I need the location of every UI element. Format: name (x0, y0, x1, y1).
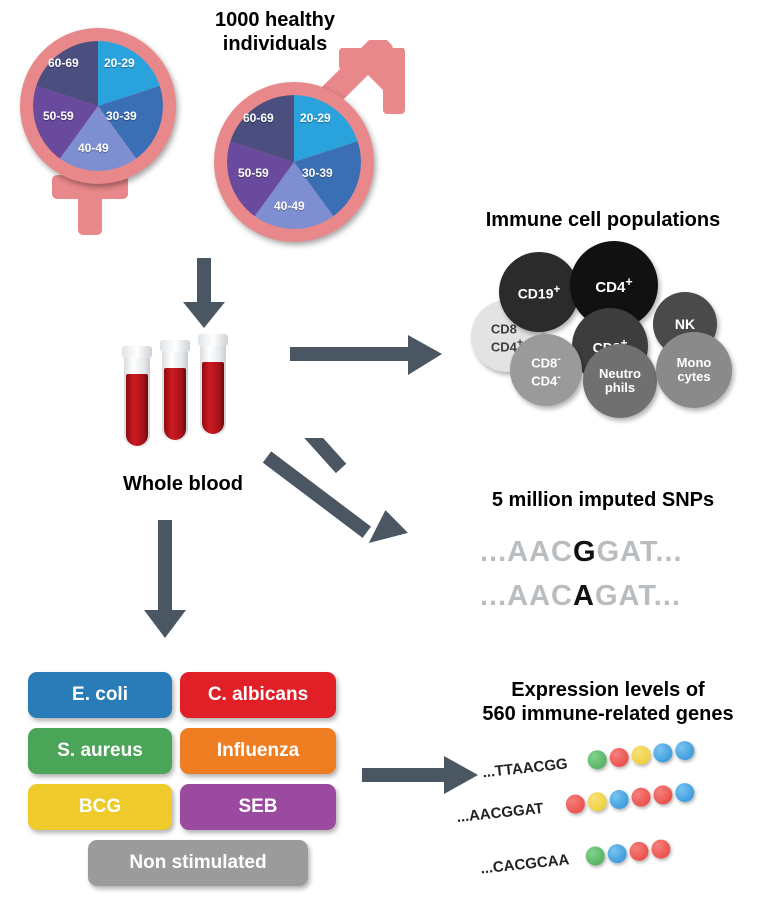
female-pie-label-60-69: 60-69 (48, 56, 79, 70)
tube-blood-fill (164, 368, 186, 440)
male-pie-label-60-69: 60-69 (243, 111, 274, 125)
bead-red (631, 787, 652, 808)
expression-heading-line1: Expression levels of (455, 678, 761, 702)
snp-suffix: GAT... (597, 536, 683, 568)
expression-heading-line2: 560 immune-related genes (455, 702, 761, 726)
neutrophils-line2: phils (605, 380, 635, 395)
neutrophils-line1: Neutro (599, 366, 641, 381)
male-pie-label-30-39: 30-39 (302, 166, 333, 180)
immune-heading: Immune cell populations (448, 208, 758, 232)
female-pie-label-40-49: 40-49 (78, 141, 109, 155)
arrow-blood-to-immune (290, 330, 450, 380)
male-pie-label-40-49: 40-49 (274, 199, 305, 213)
snp-variant-g: G (573, 536, 597, 568)
expression-heading: Expression levels of 560 immune-related … (455, 678, 761, 726)
blood-tube-2 (162, 346, 188, 442)
nk-label: NK (675, 317, 695, 331)
immune-cell-cd8neg-cd4neg: CD8- CD4- (510, 334, 582, 406)
bead-string-2-sequence: ...AACGGAT (456, 800, 545, 826)
female-pie-label-50-59: 50-59 (43, 109, 74, 123)
female-symbol: 20-29 30-39 40-49 50-59 60-69 (10, 10, 200, 240)
bead-red (650, 839, 671, 860)
female-pie-label-20-29: 20-29 (104, 56, 135, 70)
expression-bead-strings: ...TTAACGG ...AACGGAT ...CACGCAA (440, 740, 760, 910)
bead-blue (674, 740, 695, 761)
snp-prefix: ...AAC (480, 580, 573, 612)
male-age-pie: 20-29 30-39 40-49 50-59 60-69 (214, 82, 374, 242)
bead-red (565, 794, 586, 815)
bead-yellow (587, 791, 608, 812)
stimulus-s-aureus[interactable]: S. aureus (28, 728, 172, 774)
plus-sign: + (553, 283, 560, 296)
tube-blood-fill (202, 362, 224, 434)
bead-red (652, 784, 673, 805)
stimuli-grid: E. coli C. albicans S. aureus Influenza … (28, 672, 338, 892)
snp-sequences: ...AACGGAT... ...AACAGAT... (470, 530, 750, 630)
monocytes-line1: Mono (677, 355, 712, 370)
minus-sign: - (557, 353, 561, 365)
bead-string-1-sequence: ...TTAACGG (482, 755, 569, 781)
bead-red (629, 841, 650, 862)
immune-cell-cluster: CD8+ CD4+ CD19+ CD4+ NK CD8+ CD8- CD4- N… (460, 240, 760, 415)
bead-blue (607, 843, 628, 864)
monocytes-line2: cytes (677, 369, 710, 384)
snp-sequence-2: ...AACAGAT... (480, 580, 681, 613)
bead-green (587, 749, 608, 770)
immune-cell-cd19: CD19+ (499, 252, 579, 332)
minus-sign: - (557, 371, 561, 383)
tube-cap-icon (160, 340, 190, 352)
arrow-blood-to-snps (262, 438, 437, 548)
male-symbol: 20-29 30-39 40-49 50-59 60-69 (196, 40, 426, 255)
cd4-label: CD4 (491, 339, 517, 354)
cd4-label: CD4 (531, 373, 557, 388)
arrow-cohort-to-blood (175, 258, 235, 330)
blood-tube-3 (200, 340, 226, 436)
stimulus-e-coli[interactable]: E. coli (28, 672, 172, 718)
tube-blood-fill (126, 374, 148, 446)
bead-blue (609, 789, 630, 810)
bead-blue (652, 742, 673, 763)
immune-cell-monocytes: Mono cytes (656, 332, 732, 408)
blood-tube-1 (124, 352, 150, 448)
immune-cell-neutrophils: Neutro phils (583, 344, 657, 418)
stimulus-non-stimulated[interactable]: Non stimulated (88, 840, 308, 886)
female-age-pie: 20-29 30-39 40-49 50-59 60-69 (20, 28, 176, 184)
bead-blue (674, 782, 695, 803)
stimulus-bcg[interactable]: BCG (28, 784, 172, 830)
stimulus-seb[interactable]: SEB (180, 784, 336, 830)
cd19-label: CD19 (518, 286, 554, 302)
snp-sequence-1: ...AACGGAT... (480, 536, 683, 569)
cd8-label: CD8 (531, 355, 557, 370)
snp-prefix: ...AAC (480, 536, 573, 568)
stimulus-influenza[interactable]: Influenza (180, 728, 336, 774)
snp-variant-a: A (573, 580, 595, 612)
snp-suffix: GAT... (595, 580, 681, 612)
plus-sign: + (625, 275, 632, 289)
snp-heading: 5 million imputed SNPs (448, 488, 758, 512)
tube-cap-icon (122, 346, 152, 358)
arrow-blood-to-stimuli (136, 520, 196, 640)
whole-blood-label: Whole blood (83, 472, 283, 496)
bead-yellow (631, 745, 652, 766)
blood-tubes (118, 340, 248, 455)
stimulus-c-albicans[interactable]: C. albicans (180, 672, 336, 718)
bead-red (609, 747, 630, 768)
female-pie-label-30-39: 30-39 (106, 109, 137, 123)
tube-cap-icon (198, 334, 228, 346)
male-pie-label-20-29: 20-29 (300, 111, 331, 125)
bead-green (585, 846, 606, 867)
cd8-label: CD8 (491, 321, 517, 336)
cd4-label: CD4 (595, 279, 625, 296)
male-pie-label-50-59: 50-59 (238, 166, 269, 180)
bead-string-3-sequence: ...CACGCAA (480, 851, 570, 877)
